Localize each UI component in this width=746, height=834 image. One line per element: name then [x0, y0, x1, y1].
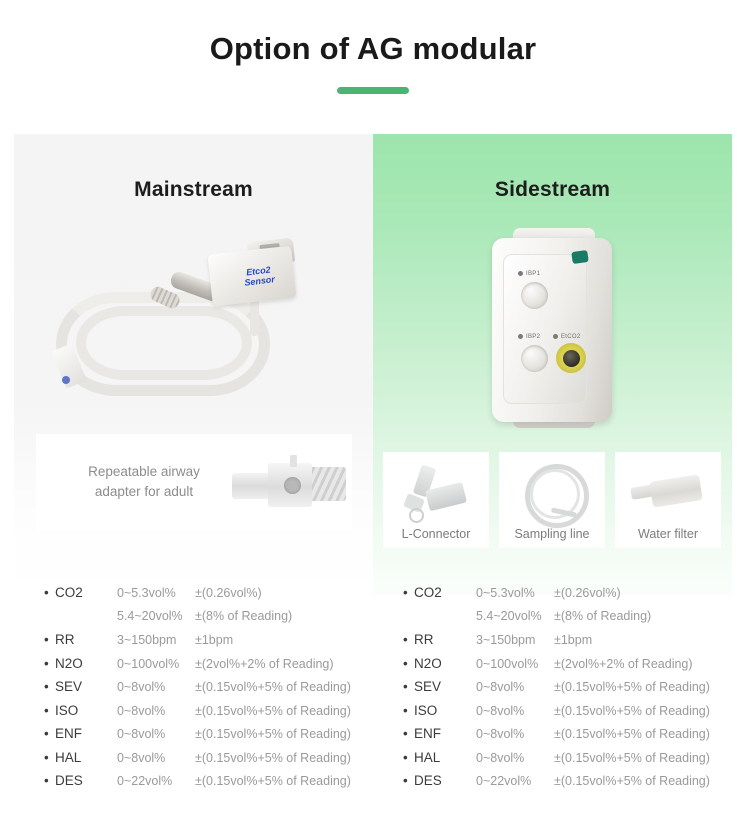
- sidestream-module-image: IBP1 IBP2 EtCO2: [373, 224, 732, 434]
- spec-accuracy-value: ±(0.15vol%+5% of Reading): [554, 751, 710, 765]
- spec-row: ISO0~8vol%±(0.15vol%+5% of Reading): [44, 703, 373, 727]
- airway-adapter-card: Repeatable airway adapter for adult: [36, 434, 352, 530]
- adapter-fin-icon: [290, 455, 297, 467]
- spec-range-value: 0~100vol%: [476, 657, 554, 671]
- spec-row: 5.4~20vol%±(8% of Reading): [403, 609, 732, 633]
- airway-adapter-caption: Repeatable airway adapter for adult: [36, 462, 228, 501]
- spec-accuracy-value: ±(0.15vol%+5% of Reading): [195, 751, 351, 765]
- water-filter-icon: [615, 452, 721, 528]
- mainstream-sensor-image: Etco2 Sensor: [14, 230, 373, 420]
- l-connector-icon: [383, 452, 489, 528]
- spec-row: N2O0~100vol%±(2vol%+2% of Reading): [44, 656, 373, 680]
- spec-range-value: 5.4~20vol%: [476, 609, 554, 623]
- spec-parameter-name: DES: [44, 773, 117, 788]
- spec-parameter-name: RR: [44, 632, 117, 647]
- spec-accuracy-value: ±1bpm: [554, 633, 592, 647]
- spec-table-sidestream: CO20~5.3vol%±(0.26vol%)5.4~20vol%±(8% of…: [373, 585, 732, 797]
- spec-range-value: 0~5.3vol%: [117, 586, 195, 600]
- spec-range-value: 0~8vol%: [117, 704, 195, 718]
- panel-title-mainstream: Mainstream: [14, 134, 373, 202]
- spec-parameter-name: HAL: [44, 750, 117, 765]
- module-green-tab-icon: [571, 250, 589, 264]
- spec-accuracy-value: ±(8% of Reading): [554, 609, 651, 623]
- spec-range-value: 0~8vol%: [476, 727, 554, 741]
- spec-parameter-name: SEV: [403, 679, 476, 694]
- spec-accuracy-value: ±(0.15vol%+5% of Reading): [195, 704, 351, 718]
- spec-accuracy-value: ±(0.26vol%): [195, 586, 262, 600]
- spec-range-value: 3~150bpm: [476, 633, 554, 647]
- spec-parameter-name: ENF: [44, 726, 117, 741]
- spec-accuracy-value: ±(0.15vol%+5% of Reading): [195, 727, 351, 741]
- spec-row: ISO0~8vol%±(0.15vol%+5% of Reading): [403, 703, 732, 727]
- adapter-thread-icon: [308, 467, 346, 501]
- spec-accuracy-value: ±(0.26vol%): [554, 586, 621, 600]
- spec-row: ENF0~8vol%±(0.15vol%+5% of Reading): [403, 726, 732, 750]
- spec-parameter-name: CO2: [44, 585, 117, 600]
- spec-accuracy-value: ±(0.15vol%+5% of Reading): [195, 774, 351, 788]
- spec-parameter-name: ENF: [403, 726, 476, 741]
- spec-parameter-name: HAL: [403, 750, 476, 765]
- accessory-label-l-connector: L-Connector: [402, 528, 471, 541]
- spec-parameter-name: RR: [403, 632, 476, 647]
- airway-adapter-caption-line1: Repeatable airway: [60, 462, 228, 482]
- spec-accuracy-value: ±(2vol%+2% of Reading): [195, 657, 334, 671]
- accessory-label-water-filter: Water filter: [638, 528, 698, 541]
- spec-parameter-name: ISO: [44, 703, 117, 718]
- spec-row: CO20~5.3vol%±(0.26vol%): [403, 585, 732, 609]
- spec-range-value: 0~22vol%: [117, 774, 195, 788]
- spec-row: RR3~150bpm±1bpm: [403, 632, 732, 656]
- spec-range-value: 0~100vol%: [117, 657, 195, 671]
- spec-row: DES0~22vol%±(0.15vol%+5% of Reading): [44, 773, 373, 797]
- spec-row: HAL0~8vol%±(0.15vol%+5% of Reading): [403, 750, 732, 774]
- spec-parameter-name: N2O: [403, 656, 476, 671]
- accessory-card-l-connector[interactable]: L-Connector: [383, 452, 489, 548]
- spec-row: DES0~22vol%±(0.15vol%+5% of Reading): [403, 773, 732, 797]
- accessory-label-sampling-line: Sampling line: [514, 528, 589, 541]
- sensor-cable-inner-icon: [76, 306, 252, 380]
- module-face-icon: [503, 254, 587, 404]
- page-header: Option of AG modular: [0, 0, 746, 94]
- spec-accuracy-value: ±(0.15vol%+5% of Reading): [554, 680, 710, 694]
- accessory-card-sampling-line[interactable]: Sampling line: [499, 452, 605, 548]
- spec-tables: CO20~5.3vol%±(0.26vol%)5.4~20vol%±(8% of…: [0, 585, 746, 797]
- port-label-etco2: EtCO2: [553, 334, 581, 340]
- spec-parameter-name: N2O: [44, 656, 117, 671]
- spec-accuracy-value: ±(0.15vol%+5% of Reading): [554, 704, 710, 718]
- port-label-ibp2: IBP2: [518, 334, 540, 340]
- spec-range-value: 0~8vol%: [117, 751, 195, 765]
- airway-adapter-image: [228, 451, 352, 513]
- port-etco2-center-icon: [563, 350, 580, 367]
- spec-row: 5.4~20vol%±(8% of Reading): [44, 609, 373, 633]
- panel-sidestream: Sidestream IBP1 IBP2 EtCO2: [373, 134, 732, 596]
- spec-range-value: 0~8vol%: [476, 704, 554, 718]
- spec-accuracy-value: ±(0.15vol%+5% of Reading): [195, 680, 351, 694]
- spec-range-value: 0~5.3vol%: [476, 586, 554, 600]
- spec-table-mainstream: CO20~5.3vol%±(0.26vol%)5.4~20vol%±(8% of…: [14, 585, 373, 797]
- spec-parameter-name: SEV: [44, 679, 117, 694]
- spec-row: RR3~150bpm±1bpm: [44, 632, 373, 656]
- title-accent-bar: [337, 87, 409, 94]
- spec-row: ENF0~8vol%±(0.15vol%+5% of Reading): [44, 726, 373, 750]
- spec-row: SEV0~8vol%±(0.15vol%+5% of Reading): [44, 679, 373, 703]
- sensor-plug-dot-icon: [62, 376, 70, 384]
- port-socket-ibp1[interactable]: [521, 282, 548, 309]
- spec-range-value: 0~8vol%: [117, 727, 195, 741]
- spec-range-value: 0~22vol%: [476, 774, 554, 788]
- spec-accuracy-value: ±(0.15vol%+5% of Reading): [554, 774, 710, 788]
- panel-mainstream: Mainstream Etco2 Sensor Repeatable airwa…: [14, 134, 373, 596]
- sampling-line-icon: [499, 452, 605, 528]
- spec-accuracy-value: ±(8% of Reading): [195, 609, 292, 623]
- spec-row: SEV0~8vol%±(0.15vol%+5% of Reading): [403, 679, 732, 703]
- spec-parameter-name: CO2: [403, 585, 476, 600]
- spec-range-value: 5.4~20vol%: [117, 609, 195, 623]
- accessory-cards: L-Connector Sampling line Water filter: [383, 452, 723, 548]
- spec-parameter-name: ISO: [403, 703, 476, 718]
- port-label-ibp1: IBP1: [518, 271, 540, 277]
- port-socket-ibp2[interactable]: [521, 345, 548, 372]
- accessory-card-water-filter[interactable]: Water filter: [615, 452, 721, 548]
- spec-range-value: 0~8vol%: [117, 680, 195, 694]
- spec-accuracy-value: ±(0.15vol%+5% of Reading): [554, 727, 710, 741]
- spec-range-value: 0~8vol%: [476, 680, 554, 694]
- spec-parameter-name: DES: [403, 773, 476, 788]
- spec-row: HAL0~8vol%±(0.15vol%+5% of Reading): [44, 750, 373, 774]
- comparison-panels: Mainstream Etco2 Sensor Repeatable airwa…: [0, 134, 746, 596]
- airway-adapter-caption-line2: adapter for adult: [60, 482, 228, 502]
- adapter-window-icon: [284, 477, 301, 494]
- spec-accuracy-value: ±1bpm: [195, 633, 233, 647]
- panel-title-sidestream: Sidestream: [373, 134, 732, 202]
- spec-accuracy-value: ±(2vol%+2% of Reading): [554, 657, 693, 671]
- spec-range-value: 0~8vol%: [476, 751, 554, 765]
- spec-range-value: 3~150bpm: [117, 633, 195, 647]
- page-title: Option of AG modular: [0, 30, 746, 67]
- spec-row: N2O0~100vol%±(2vol%+2% of Reading): [403, 656, 732, 680]
- port-socket-etco2[interactable]: [556, 343, 586, 373]
- spec-row: CO20~5.3vol%±(0.26vol%): [44, 585, 373, 609]
